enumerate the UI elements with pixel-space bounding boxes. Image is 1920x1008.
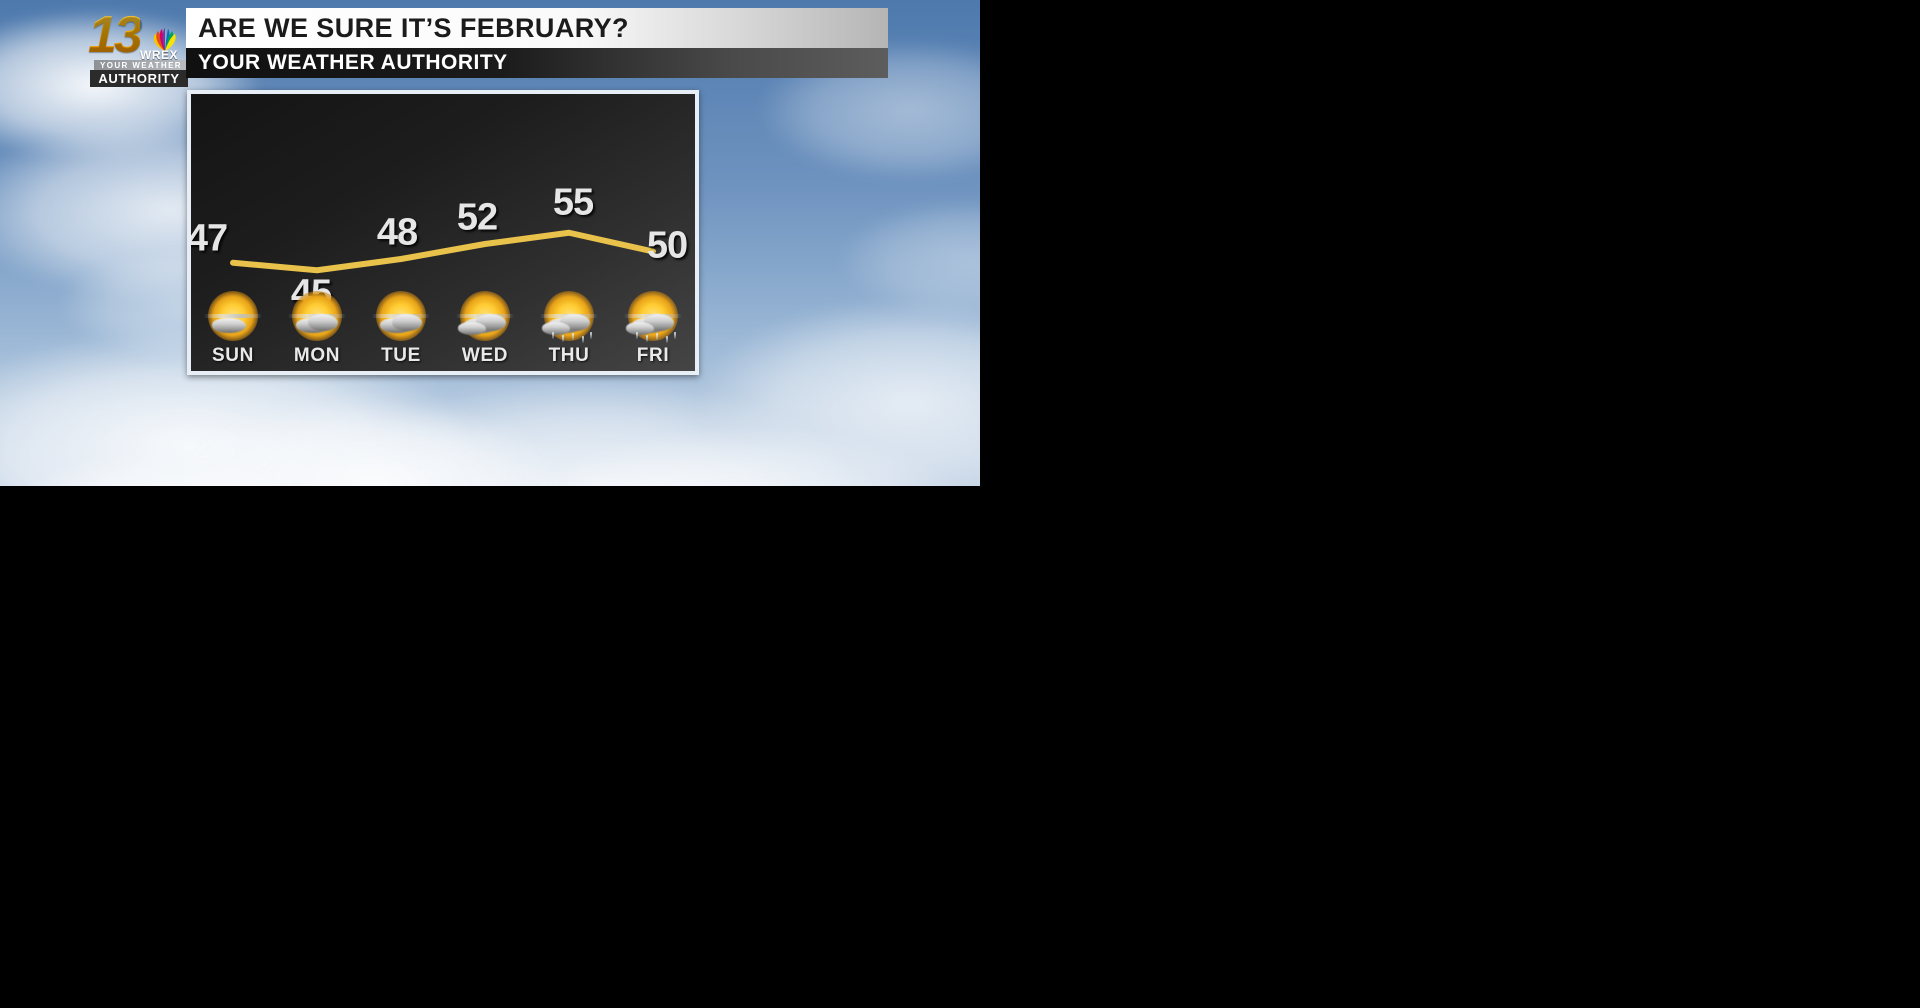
cloud-puff-icon bbox=[458, 322, 486, 335]
broadcast-graphic: 13 WREX YOUR WEATHER AUTHORITY ARE WE SU… bbox=[0, 0, 980, 486]
temp-label-fri: 50 bbox=[647, 224, 687, 267]
day-label: WED bbox=[462, 345, 508, 367]
subhead-bar: YOUR WEATHER AUTHORITY bbox=[186, 48, 888, 78]
day-label: THU bbox=[549, 345, 590, 367]
rain-drop bbox=[590, 332, 592, 339]
subhead-text: YOUR WEATHER AUTHORITY bbox=[186, 51, 508, 75]
day-column-wed[interactable]: WED bbox=[443, 281, 527, 371]
day-column-sun[interactable]: SUN bbox=[191, 281, 275, 371]
cloud-puff-icon bbox=[392, 314, 422, 331]
mostly-cloudy-icon bbox=[454, 288, 516, 344]
rain-drop bbox=[674, 332, 676, 339]
partly-cloudy-icon bbox=[370, 288, 432, 344]
cloud-puff-icon bbox=[212, 318, 246, 333]
rain-drop bbox=[656, 333, 658, 340]
rain-drop bbox=[646, 335, 648, 342]
day-column-tue[interactable]: TUE bbox=[359, 281, 443, 371]
partly-cloudy-icon bbox=[286, 288, 348, 344]
logo-tagline-bottom: AUTHORITY bbox=[90, 70, 188, 87]
day-label: TUE bbox=[381, 345, 421, 367]
rain-drops-icon bbox=[550, 332, 594, 346]
forecast-panel: 474548525550 SUNMONTUEWEDTHUFRI bbox=[187, 90, 699, 375]
day-columns: SUNMONTUEWEDTHUFRI bbox=[191, 281, 695, 371]
headline-text: ARE WE SURE IT’S FEBRUARY? bbox=[186, 13, 629, 44]
forecast-panel-inner: 474548525550 SUNMONTUEWEDTHUFRI bbox=[191, 94, 695, 371]
rain-drop bbox=[582, 336, 584, 343]
temp-label-tue: 48 bbox=[377, 212, 417, 255]
rain-drop bbox=[572, 333, 574, 340]
day-label: MON bbox=[294, 345, 340, 367]
station-logo: 13 WREX YOUR WEATHER AUTHORITY bbox=[88, 10, 188, 82]
rain-drop bbox=[552, 332, 554, 339]
rain-drops-icon bbox=[634, 332, 678, 346]
title-banner: ARE WE SURE IT’S FEBRUARY? YOUR WEATHER … bbox=[186, 8, 888, 78]
day-column-mon[interactable]: MON bbox=[275, 281, 359, 371]
rain-drop bbox=[636, 332, 638, 339]
screenshot-root: 13 WREX YOUR WEATHER AUTHORITY ARE WE SU… bbox=[0, 0, 1920, 1008]
cloudy-rain-icon bbox=[538, 288, 600, 344]
cloud-puff-icon bbox=[308, 314, 338, 331]
sunny-icon bbox=[202, 288, 264, 344]
channel-number: 13 bbox=[88, 10, 140, 60]
cloudy-rain-icon bbox=[622, 288, 684, 344]
temperature-trend-line bbox=[233, 233, 653, 271]
temp-label-sun: 47 bbox=[191, 217, 227, 260]
day-column-thu[interactable]: THU bbox=[527, 281, 611, 371]
temp-label-thu: 55 bbox=[553, 181, 593, 224]
temp-label-wed: 52 bbox=[457, 197, 497, 240]
rain-drop bbox=[562, 335, 564, 342]
rain-drop bbox=[666, 336, 668, 343]
day-column-fri[interactable]: FRI bbox=[611, 281, 695, 371]
day-label: SUN bbox=[212, 345, 254, 367]
headline-bar: ARE WE SURE IT’S FEBRUARY? bbox=[186, 8, 888, 48]
day-label: FRI bbox=[637, 345, 669, 367]
